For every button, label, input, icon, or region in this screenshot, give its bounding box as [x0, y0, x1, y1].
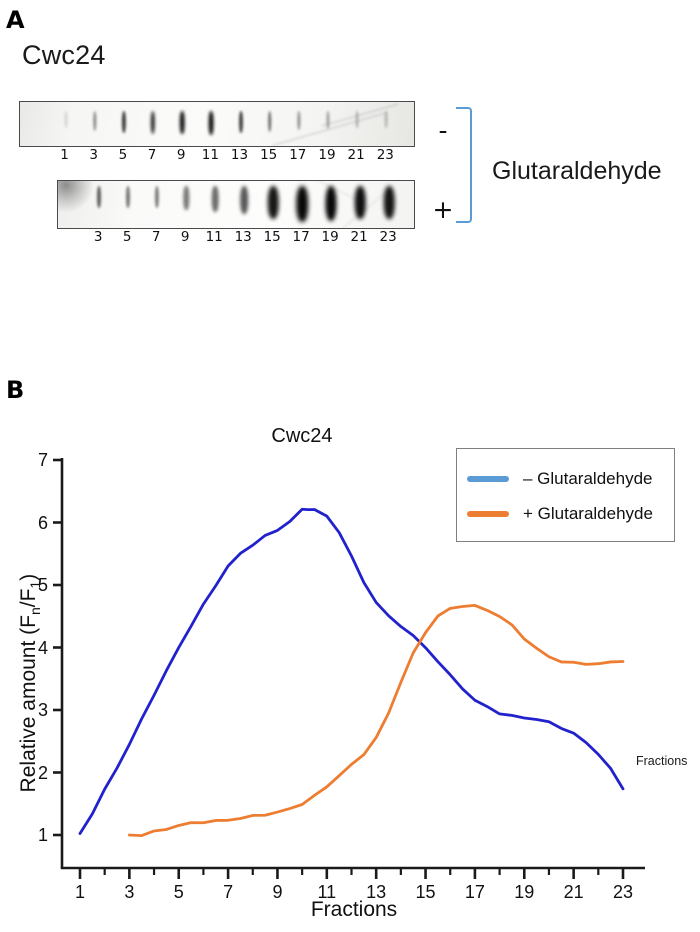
panel-a: A Cwc24 1357911131517192123 357911131517… [0, 0, 700, 340]
lane-label: 15 [260, 146, 277, 164]
x-tick-label: 9 [272, 883, 282, 901]
lane-label: 3 [94, 228, 103, 246]
panel-a-protein-label: Cwc24 [22, 40, 106, 71]
lane-label: 19 [318, 146, 335, 164]
lane-label: 11 [206, 228, 223, 246]
panel-a-letter: A [6, 8, 25, 32]
x-tick-label: 13 [366, 883, 386, 901]
stray-fractions-text: Fractions [636, 754, 687, 768]
lane-label: 7 [148, 146, 157, 164]
lane-label: 11 [202, 146, 219, 164]
lane-label: 9 [181, 228, 190, 246]
lane-labels-plus: 357911131517192123 [0, 228, 430, 246]
lane-label: 5 [119, 146, 128, 164]
gel-blot-plus-glutaraldehyde [57, 180, 415, 229]
x-tick-label: 15 [416, 883, 436, 901]
lane-label: 7 [152, 228, 161, 246]
x-tick-label: 23 [613, 883, 633, 901]
x-tick-label: 19 [514, 883, 534, 901]
lane-label: 21 [351, 228, 368, 246]
gel-blot-minus-glutaraldehyde [19, 101, 415, 147]
lane-label: 23 [380, 228, 397, 246]
glutaraldehyde-label: Glutaraldehyde [492, 157, 662, 186]
gel-band [326, 111, 329, 129]
data-series-line-minus [80, 509, 623, 833]
lane-label: 19 [322, 228, 339, 246]
gel-band [180, 111, 185, 134]
lane-label: 3 [89, 146, 98, 164]
y-tick-label: 7 [38, 451, 48, 469]
y-tick-label: 6 [38, 514, 48, 532]
gel-band [209, 111, 214, 135]
gel-band [64, 111, 67, 128]
x-tick-label: 11 [317, 883, 336, 901]
gel-band [326, 186, 337, 221]
chart-legend: – Glutaraldehyde + Glutaraldehyde [456, 448, 675, 542]
legend-item-minus-glutaraldehyde: – Glutaraldehyde [467, 468, 652, 490]
gel-band [97, 186, 101, 208]
lane-label: 17 [289, 146, 306, 164]
y-tick-label: 5 [38, 576, 48, 594]
lane-label: 21 [348, 146, 365, 164]
lane-label: 15 [264, 228, 281, 246]
lane-labels-minus: 1357911131517192123 [0, 146, 430, 164]
panel-b: B Cwc24 Relative amount (Fn/F1) Fraction… [0, 370, 700, 932]
legend-swatch-plus [467, 511, 509, 517]
y-axis-title: Relative amount (Fn/F1) [17, 483, 43, 883]
x-tick-label: 17 [465, 883, 485, 901]
legend-label-plus: + Glutaraldehyde [523, 504, 653, 524]
x-axis-title: Fractions [62, 898, 646, 922]
lane-label: 13 [231, 146, 248, 164]
gel-band [268, 111, 272, 132]
x-tick-label: 1 [75, 883, 85, 901]
gel-band [239, 111, 243, 133]
lane-label: 17 [293, 228, 310, 246]
legend-swatch-minus [467, 476, 509, 482]
legend-item-plus-glutaraldehyde: + Glutaraldehyde [467, 503, 653, 525]
y-tick-label: 4 [38, 639, 48, 657]
gel-band [384, 186, 395, 219]
x-tick-label: 7 [223, 883, 233, 901]
gel-band [356, 111, 359, 128]
x-tick-label: 5 [174, 883, 184, 901]
glutaraldehyde-bracket [456, 107, 472, 223]
y-tick-label: 3 [38, 701, 48, 719]
lane-label: 9 [177, 146, 186, 164]
gel-band [385, 111, 388, 128]
y-tick-label: 2 [38, 764, 48, 782]
x-tick-label: 3 [124, 883, 134, 901]
lane-label: 13 [235, 228, 252, 246]
y-tick-label: 1 [38, 826, 48, 844]
legend-label-minus: – Glutaraldehyde [523, 469, 652, 489]
gel-band [355, 186, 366, 219]
gel-band [212, 186, 219, 212]
lane-label: 23 [377, 146, 394, 164]
gel-band [268, 186, 279, 219]
gel-band [296, 186, 308, 222]
x-tick-label: 21 [564, 883, 584, 901]
lane-label: 1 [60, 146, 69, 164]
gel-band [126, 186, 130, 208]
gel-band [240, 186, 248, 214]
condition-sign-plus: + [432, 197, 454, 222]
condition-sign-minus: - [432, 118, 454, 143]
lane-label: 5 [123, 228, 132, 246]
